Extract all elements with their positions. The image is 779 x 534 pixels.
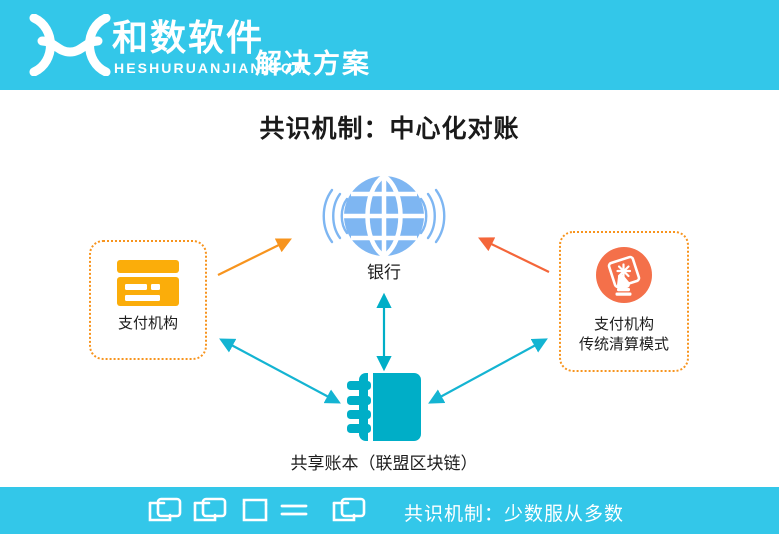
right-box-label-line2: 传统清算模式 (561, 335, 687, 355)
arrow-left-to-ledger (222, 340, 338, 402)
copy-squares-icon (334, 499, 364, 520)
footer-icon-group (148, 495, 380, 527)
notebook-ledger-icon (345, 371, 423, 443)
bank-label: 银行 (300, 258, 468, 283)
copy-squares-icon (195, 499, 225, 520)
right-box-label: 支付机构 传统清算模式 (561, 315, 687, 355)
bank-node[interactable] (318, 166, 450, 266)
single-square-icon (244, 500, 266, 520)
arrow-left-to-bank (218, 240, 289, 275)
footer-text: 共识机制：少数服从多数 (404, 499, 624, 526)
shared-ledger-label: 共享账本（联盟区块链） (229, 449, 539, 474)
hand-holding-card-icon (596, 247, 652, 303)
equals-icon (282, 506, 306, 514)
arrow-right-to-bank (481, 239, 549, 272)
left-box-label: 支付机构 (91, 314, 205, 334)
arrow-right-to-ledger (431, 340, 545, 402)
right-box-label-line1: 支付机构 (561, 315, 687, 335)
globe-icon (318, 166, 450, 266)
page-footer: 共识机制：少数服从多数 (0, 487, 779, 534)
shared-ledger-node[interactable] (345, 371, 423, 443)
diagram-page: 和数软件 HESHURUANJIAN.COM 解决方案 共识机制：中心化对账 (0, 0, 779, 534)
copy-squares-icon (150, 499, 180, 520)
left-payment-institution-box[interactable]: 支付机构 (89, 240, 207, 360)
credit-card-icon (117, 260, 179, 306)
right-payment-institution-box[interactable]: 支付机构 传统清算模式 (559, 231, 689, 372)
